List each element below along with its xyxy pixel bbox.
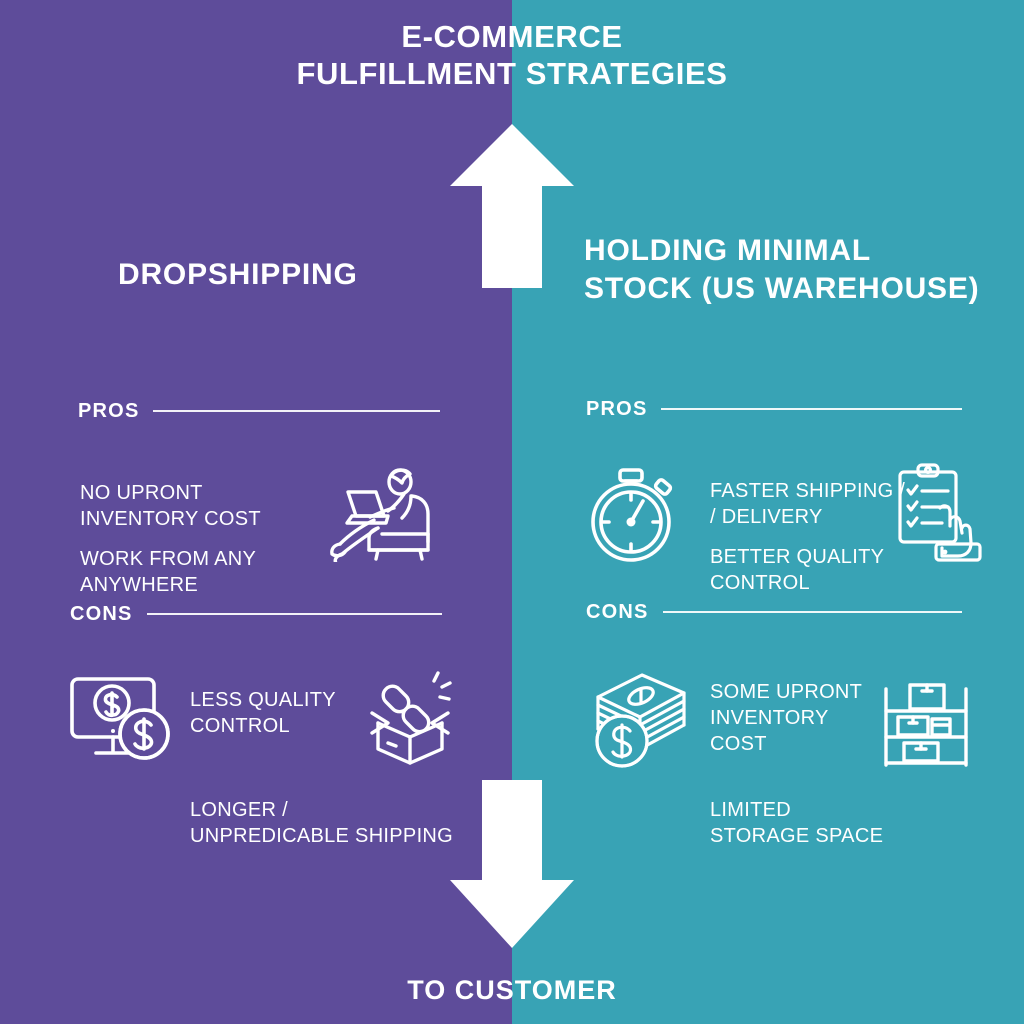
section-label: PROS <box>78 400 139 423</box>
section-label: PROS <box>586 398 647 421</box>
item-line-1: LONGER / <box>190 797 466 823</box>
up-arrow-icon <box>450 124 574 288</box>
broken-chain-box-icon <box>358 667 462 767</box>
section-header: CONS <box>70 603 442 625</box>
item-line-2: CONTROL <box>710 570 930 596</box>
list-item: WORK FROM ANY ANYWHERE <box>80 546 300 598</box>
clipboard-checklist-hand-icon <box>892 462 992 566</box>
item-line-2: CONTROL <box>190 713 380 739</box>
section-dropshipping-pros: PROS NO UPRONT INVENTORY COST WORK FROM … <box>78 400 440 626</box>
list-item: LONGER / UNPREDICABLE SHIPPING <box>190 797 466 849</box>
section-divider-rule <box>661 408 962 410</box>
list-item: LESS QUALITY CONTROL <box>190 687 380 739</box>
section-divider-rule <box>147 613 442 615</box>
item-line-2: ANYWHERE <box>80 572 300 598</box>
item-line-1: WORK FROM ANY <box>80 546 300 572</box>
item-line-1: LIMITED <box>710 797 950 823</box>
item-line-2: STORAGE SPACE <box>710 823 950 849</box>
cash-stack-dollar-icon <box>588 671 692 769</box>
down-arrow-icon <box>450 780 574 948</box>
section-body: SOME UPRONT INVENTORY COST <box>586 637 962 827</box>
heading-text: DROPSHIPPING <box>118 258 358 291</box>
section-header: CONS <box>586 601 962 623</box>
section-body: LESS QUALITY CONTROL <box>70 639 442 829</box>
infographic-canvas: E-COMMERCE FULFILLMENT STRATEGIES DROPSH… <box>0 0 1024 1024</box>
section-holding-stock-cons: CONS <box>586 601 962 827</box>
section-body: FASTER SHIPPING / / DELIVERY BETTER QUAL… <box>586 434 962 624</box>
bottom-caption-text: TO CUSTOMER <box>407 975 617 1005</box>
section-label: CONS <box>586 601 649 624</box>
warehouse-shelf-boxes-icon <box>874 675 978 769</box>
section-header: PROS <box>586 398 962 420</box>
section-label: CONS <box>70 603 133 626</box>
stopwatch-icon <box>586 466 688 566</box>
section-holding-stock-pros: PROS <box>586 398 962 624</box>
item-line-2: UNPREDICABLE SHIPPING <box>190 823 466 849</box>
heading-line-2: STOCK (US WAREHOUSE) <box>584 270 984 308</box>
monitor-dollar-icon <box>68 673 178 767</box>
item-line-2: INVENTORY COST <box>80 506 290 532</box>
bottom-caption: TO CUSTOMER <box>0 975 1024 1006</box>
list-item: LIMITED STORAGE SPACE <box>710 797 950 849</box>
section-divider-rule <box>153 410 440 412</box>
section-divider-rule <box>663 611 962 613</box>
item-line-1: NO UPRONT <box>80 480 290 506</box>
list-item: NO UPRONT INVENTORY COST <box>80 480 290 532</box>
section-body: NO UPRONT INVENTORY COST WORK FROM ANY A… <box>78 436 440 626</box>
item-line-1: LESS QUALITY <box>190 687 380 713</box>
column-heading-holding-minimal-stock: HOLDING MINIMAL STOCK (US WAREHOUSE) <box>584 232 984 308</box>
person-laptop-recliner-icon <box>316 458 440 562</box>
section-dropshipping-cons: CONS <box>70 603 442 829</box>
heading-line-1: HOLDING MINIMAL <box>584 232 984 270</box>
column-heading-dropshipping: DROPSHIPPING <box>118 256 448 294</box>
section-header: PROS <box>78 400 440 422</box>
